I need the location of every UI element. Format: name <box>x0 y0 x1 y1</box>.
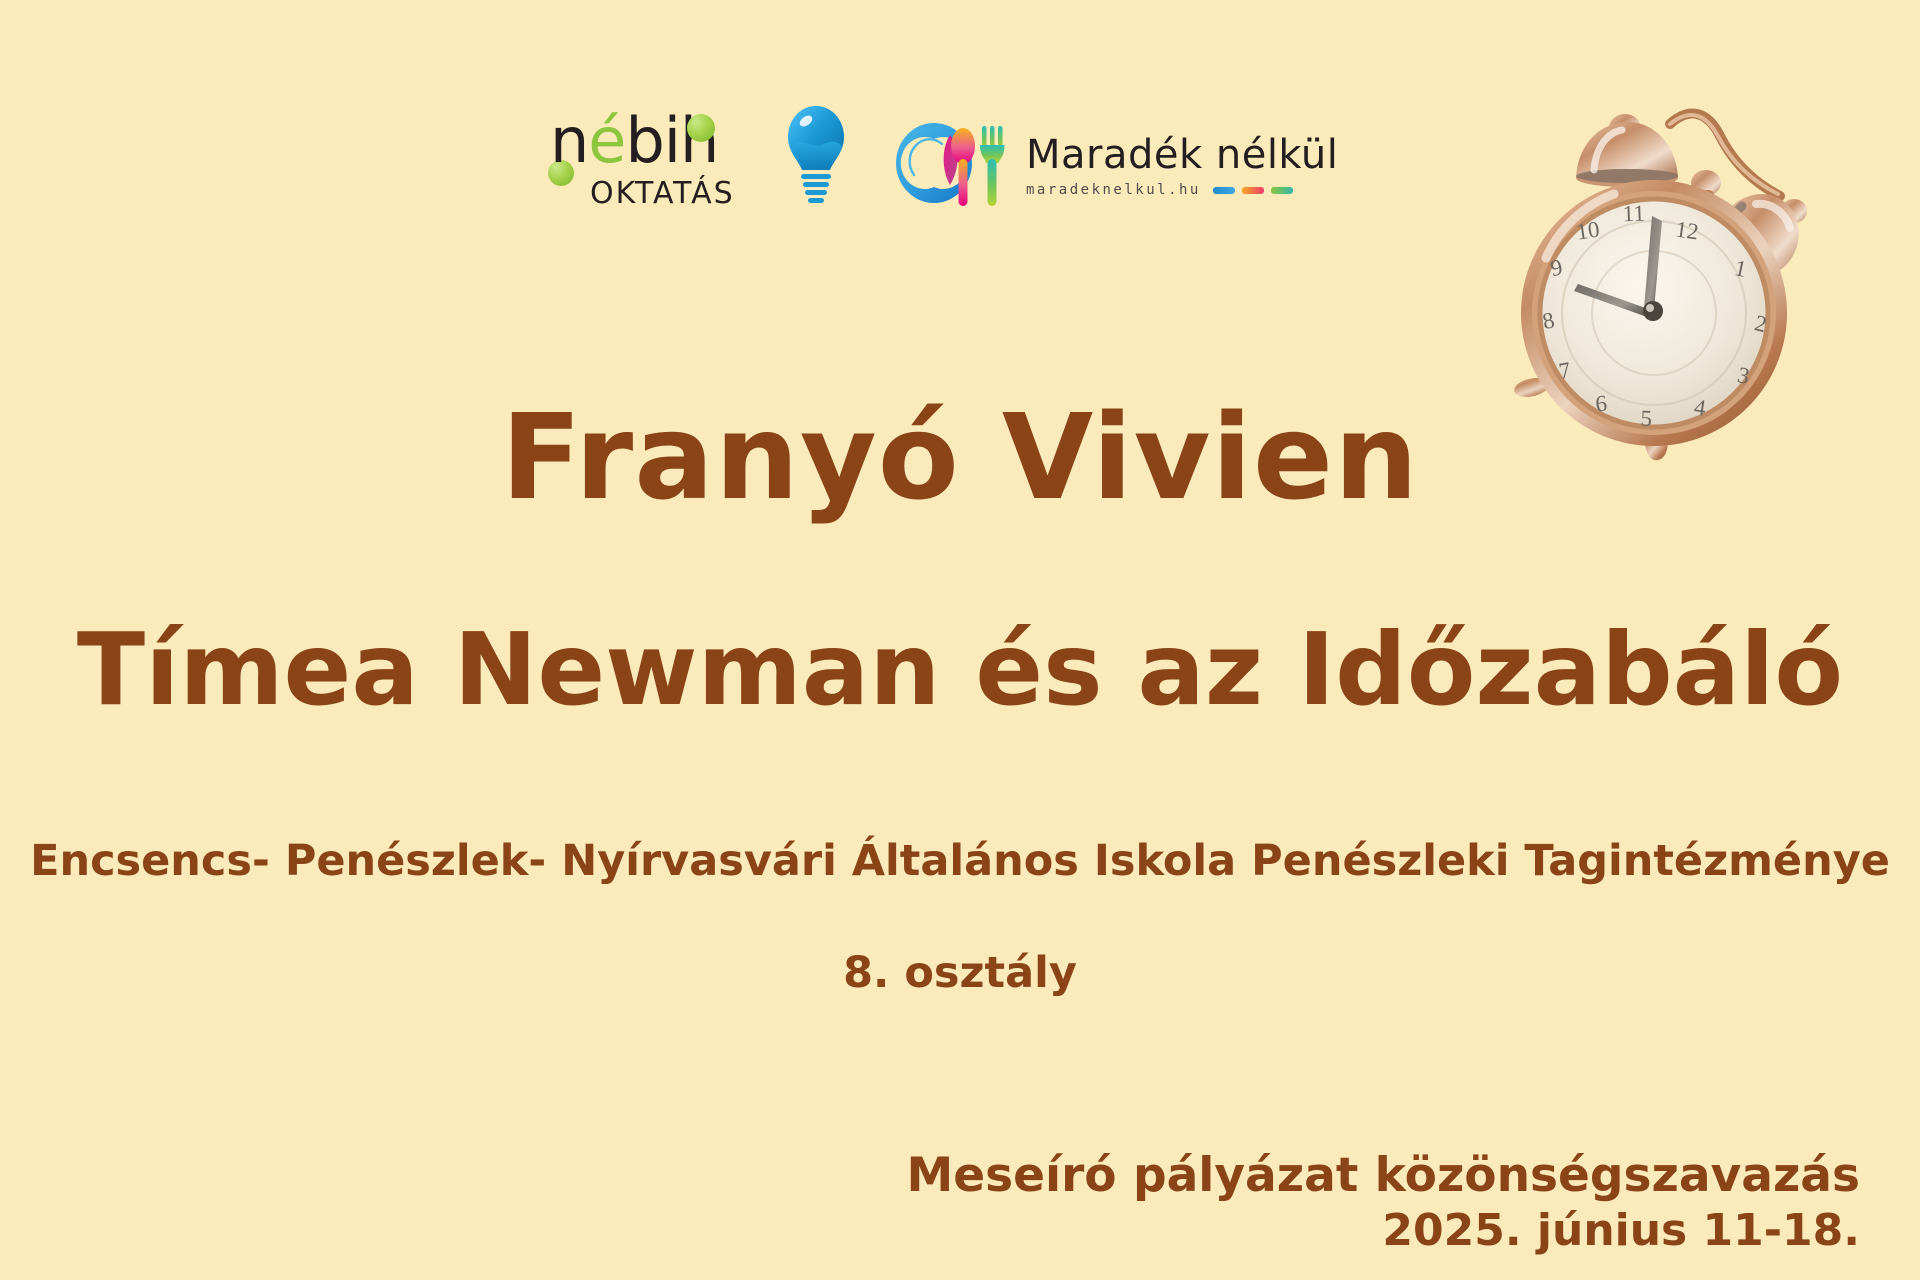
plate-spoon-fork-icon <box>890 113 1012 213</box>
brand-dash-2 <box>1242 187 1264 194</box>
maradek-text-block: Maradék nélkül maradeknelkul.hu <box>1026 128 1338 198</box>
event-dates: 2025. június 11-18. <box>907 1204 1861 1258</box>
brand-dash-3 <box>1271 187 1293 194</box>
footer-block: Meseíró pályázat közönségszavazás 2025. … <box>907 1147 1861 1258</box>
poster-canvas: nébih OKTATÁS <box>0 0 1920 1280</box>
nebih-green-dot-2-icon <box>687 114 715 142</box>
maradek-url-row: maradeknelkul.hu <box>1026 182 1338 198</box>
grade-label: 8. osztály <box>0 950 1920 997</box>
maradek-nelkul-logo: Maradék nélkül maradeknelkul.hu <box>890 108 1370 218</box>
svg-text:12: 12 <box>1674 217 1700 245</box>
brand-dashes <box>1213 187 1293 194</box>
svg-text:11: 11 <box>1622 201 1645 227</box>
nebih-subtitle: OKTATÁS <box>590 176 735 211</box>
nebih-logo: nébih OKTATÁS <box>550 108 840 218</box>
author-name: Franyó Vivien <box>0 398 1920 516</box>
svg-text:10: 10 <box>1575 217 1601 245</box>
brand-dash-1 <box>1213 187 1235 194</box>
school-name: Encsencs- Penészlek- Nyírvasvári Általán… <box>0 838 1920 885</box>
maradek-title: Maradék nélkül <box>1026 134 1338 176</box>
lightbulb-icon <box>784 104 848 212</box>
event-name: Meseíró pályázat közönségszavazás <box>907 1147 1861 1204</box>
maradek-url: maradeknelkul.hu <box>1026 182 1201 198</box>
story-title: Tímea Newman és az Időzabáló <box>0 620 1920 720</box>
